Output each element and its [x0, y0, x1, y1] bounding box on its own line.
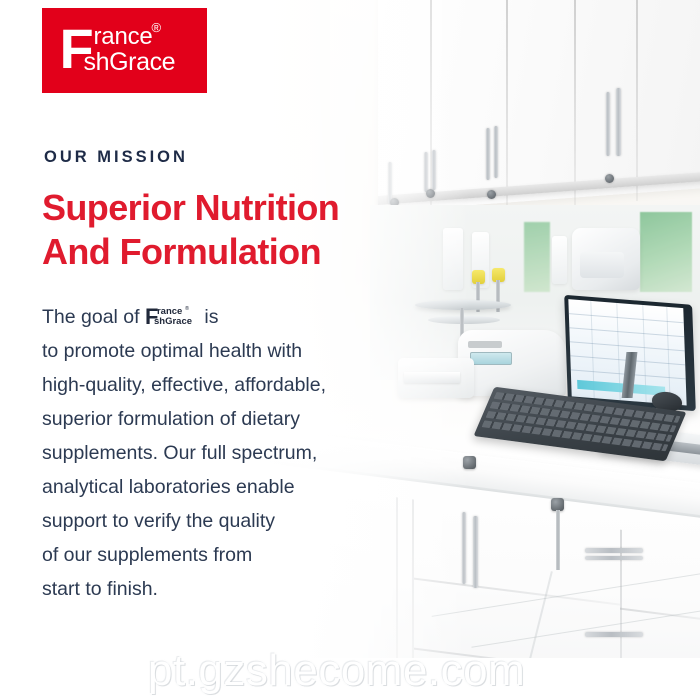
body-line: supplements. Our full spectrum,: [42, 436, 372, 470]
cabinet-lock-shaft: [556, 510, 560, 570]
registered-mark-icon: ®: [152, 21, 162, 34]
body-text-before-logo: The goal of: [42, 306, 145, 328]
cabinet-handle: [494, 126, 498, 178]
body-line: support to verify the quality: [42, 504, 372, 538]
headline-line-1: Superior Nutrition: [42, 186, 442, 230]
cabinet-handle: [606, 92, 610, 156]
cabinet-lock-knob: [487, 190, 496, 199]
logo-text-rance: rance: [94, 25, 153, 49]
headline-line-2: And Formulation: [42, 230, 442, 274]
inline-registered-mark-icon: ®: [185, 306, 189, 312]
page-title: Superior Nutrition And Formulation: [42, 186, 442, 274]
body-text-after-logo: is: [199, 306, 219, 328]
paper-towel-dispenser: [572, 228, 640, 290]
cabinet-handle: [616, 88, 621, 156]
site-watermark: pt.gzshecome.com: [148, 648, 525, 694]
body-line: analytical laboratories enable: [42, 470, 372, 504]
body-line: to promote optimal health with: [42, 334, 372, 368]
analyzer-display: [470, 352, 512, 365]
inline-brand-logo: France®shGrace: [145, 306, 199, 328]
body-line: high-quality, effective, affordable,: [42, 368, 372, 402]
drawer-handle: [585, 632, 643, 637]
green-wall-panel: [640, 212, 692, 292]
mission-body-text: The goal of France®shGrace is to promote…: [42, 300, 372, 606]
body-line: start to finish.: [42, 572, 372, 606]
body-line: of our supplements from: [42, 538, 372, 572]
inline-logo-text-shgrace: shGrace: [154, 317, 192, 327]
green-wall-panel: [524, 222, 550, 292]
cabinet-lock-knob: [605, 174, 614, 183]
drawer-handle: [585, 556, 643, 560]
body-line: superior formulation of dietary: [42, 402, 372, 436]
logo-text-shgrace: shGrace: [84, 50, 176, 75]
reagent-bottle: [552, 236, 567, 284]
brand-logo[interactable]: F rance ® shGrace: [42, 8, 207, 93]
poster-canvas: F rance ® shGrace OUR MISSION Superior N…: [0, 0, 700, 700]
body-line-first: The goal of France®shGrace is: [42, 300, 372, 334]
cabinet-handle: [486, 128, 490, 180]
brand-logo-mark: F rance ® shGrace: [60, 22, 190, 80]
eyebrow-label: OUR MISSION: [44, 148, 188, 167]
drawer-handle: [473, 516, 478, 588]
analyzer-slot: [468, 341, 502, 348]
drawer-handle: [585, 548, 643, 553]
